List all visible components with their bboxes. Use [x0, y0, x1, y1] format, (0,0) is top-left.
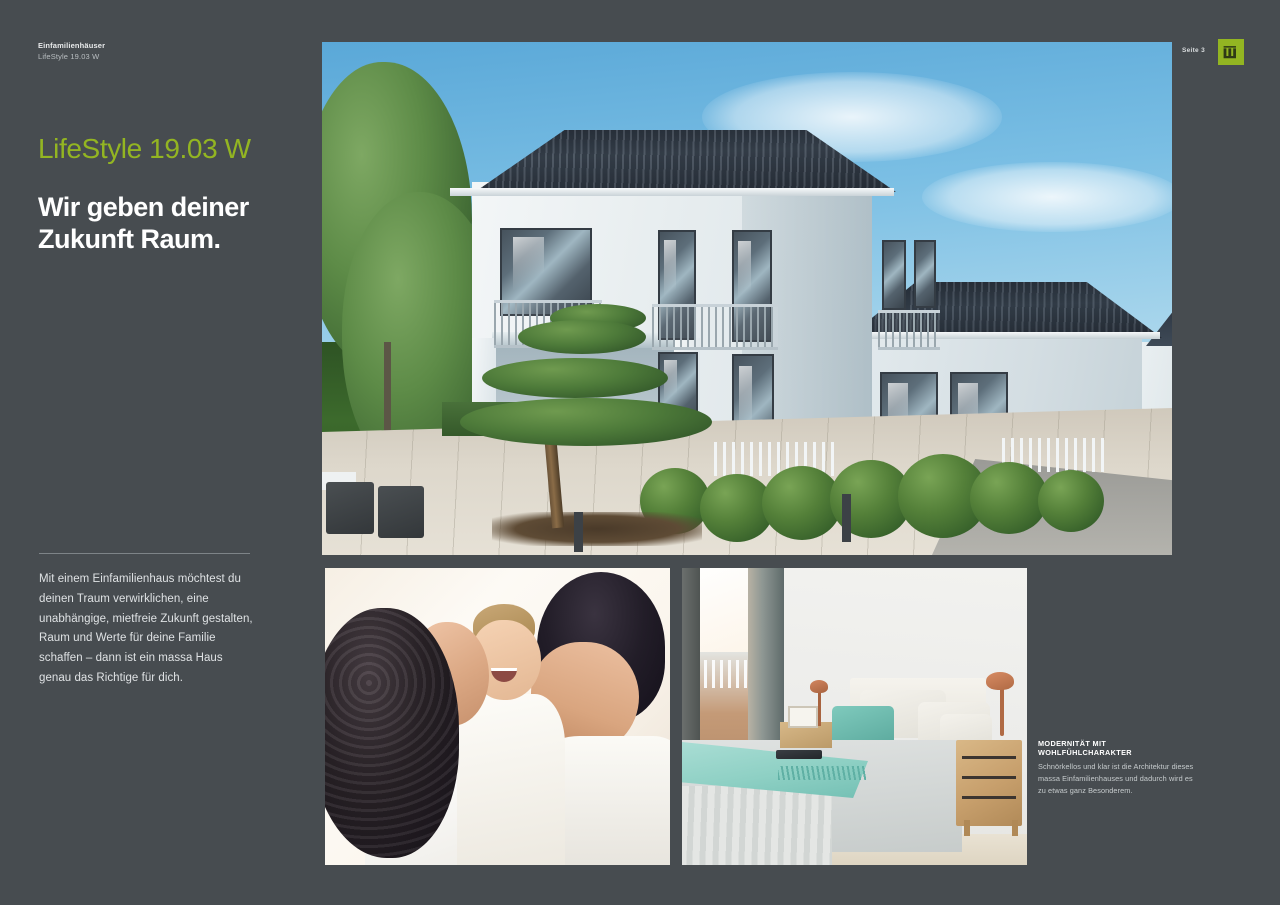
garden-light-bollard	[842, 494, 851, 542]
drawer-handle	[962, 796, 1016, 799]
main-eave	[450, 188, 894, 196]
massa-haus-m-logo	[1218, 39, 1244, 65]
mother-hair	[325, 608, 459, 858]
garden-chair	[378, 486, 424, 538]
page-title: Wir geben deiner Zukunft Raum.	[38, 192, 296, 255]
caption-title: MODERNITÄT MIT WOHLFÜHLCHARAKTER	[1038, 739, 1198, 758]
balcony-railing	[878, 310, 940, 350]
nightstand	[956, 740, 1022, 826]
curtain	[748, 568, 784, 754]
intro-paragraph: Mit einem Einfamilienhaus möchtest du de…	[39, 570, 258, 689]
divider	[39, 553, 250, 554]
wing-eave	[822, 332, 1160, 339]
table-lamp-arm	[818, 692, 821, 726]
drawer-handle	[962, 756, 1016, 759]
bedroom-interior-photo	[682, 568, 1027, 865]
copper-lamp-shade	[986, 672, 1014, 690]
balcony-railing	[652, 304, 778, 350]
boxwood-sphere	[1038, 470, 1104, 532]
headline-line-2: Zukunft Raum.	[38, 224, 221, 254]
bed-skirt	[682, 786, 832, 865]
running-header-model: LifeStyle 19.03 W	[38, 52, 105, 63]
window-upper	[882, 240, 906, 310]
boxwood-sphere	[970, 462, 1048, 534]
running-header: Einfamilienhäuser LifeStyle 19.03 W	[38, 41, 105, 63]
curtain	[682, 568, 700, 753]
bonsai-foliage-pad	[518, 320, 646, 354]
caption-block: MODERNITÄT MIT WOHLFÜHLCHARAKTER Schnörk…	[1038, 739, 1198, 796]
nightstand-leg	[964, 820, 970, 836]
garden-light-bollard	[574, 512, 583, 552]
caption-body: Schnörkellos und klar ist die Architektu…	[1038, 761, 1198, 796]
drawer-handle	[962, 776, 1016, 779]
bonsai-foliage-pad	[460, 398, 712, 446]
headline-block: LifeStyle 19.03 W Wir geben deiner Zukun…	[38, 134, 296, 256]
garden-chair	[326, 482, 374, 534]
table-lamp-shade	[810, 680, 828, 693]
page-number: Seite 3	[1182, 47, 1205, 54]
planting-bed	[492, 512, 702, 546]
headline-line-1: Wir geben deiner	[38, 192, 249, 222]
picture-frame	[788, 706, 818, 728]
family-photo	[325, 568, 670, 865]
window-upper	[914, 240, 936, 308]
cloud	[922, 162, 1172, 232]
tablet-on-bed	[776, 750, 822, 759]
bonsai-foliage-pad	[482, 358, 668, 398]
model-eyebrow: LifeStyle 19.03 W	[38, 134, 296, 163]
child-torso	[457, 694, 565, 865]
throw-fringe	[778, 766, 866, 780]
copper-lamp-arm	[1000, 686, 1004, 736]
running-header-category: Einfamilienhäuser	[38, 41, 105, 52]
house-exterior-photo	[322, 42, 1172, 555]
nightstand-leg	[1012, 820, 1018, 836]
